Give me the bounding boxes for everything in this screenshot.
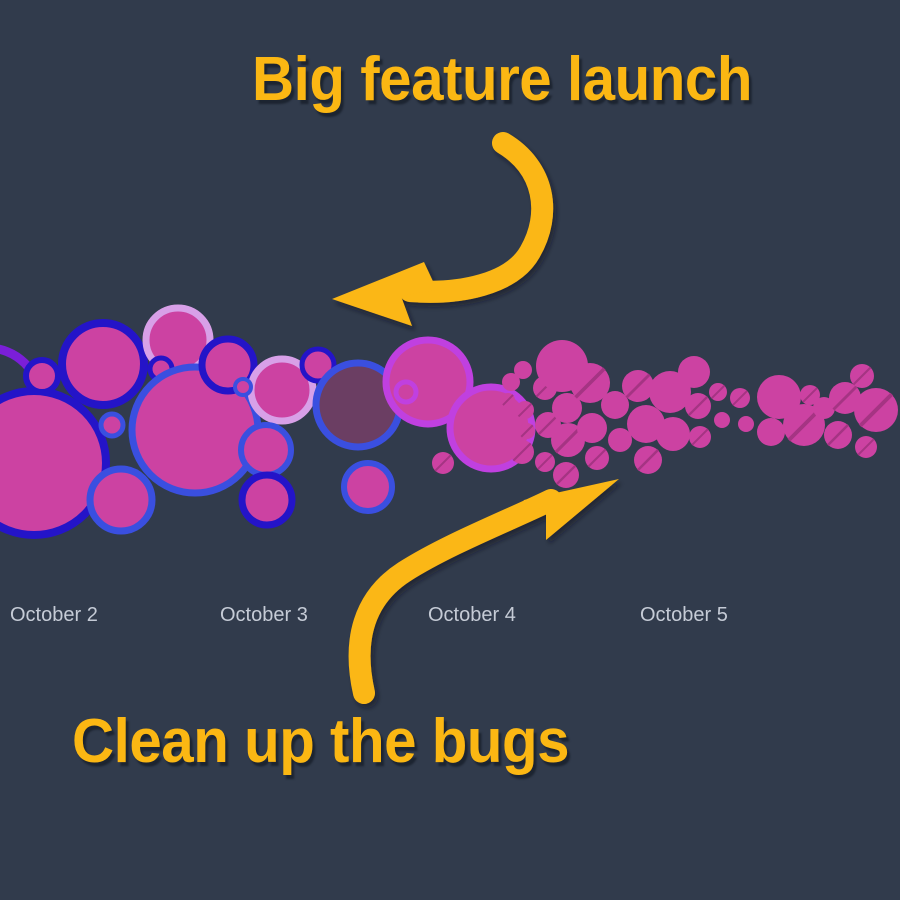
bubble-point[interactable] (519, 423, 535, 439)
bubble-point[interactable] (601, 391, 629, 419)
bubble-point[interactable] (501, 393, 515, 407)
bubble-point[interactable] (90, 469, 152, 531)
x-axis-tick-label: October 2 (10, 604, 98, 627)
bubble-point[interactable] (608, 428, 632, 452)
bubble-point[interactable] (709, 383, 727, 401)
annotation-label-bottom: Clean up the bugs (72, 706, 569, 777)
annotation-arrow-top (332, 143, 542, 326)
bubble-point[interactable] (656, 417, 690, 451)
bubble-point[interactable] (855, 436, 877, 458)
bubble-point[interactable] (730, 388, 750, 408)
bubble-series[interactable] (0, 308, 898, 535)
bubble-point[interactable] (514, 361, 532, 379)
bubble-point[interactable] (26, 360, 58, 392)
bubble-point[interactable] (535, 452, 555, 472)
annotation-label-top: Big feature launch (252, 44, 752, 115)
bubble-point[interactable] (577, 413, 607, 443)
bubble-point[interactable] (585, 446, 609, 470)
bubble-point[interactable] (850, 364, 874, 388)
annotation-arrow-bottom (360, 479, 619, 693)
bubble-point[interactable] (516, 401, 534, 419)
bubble-point[interactable] (685, 393, 711, 419)
bubble-point[interactable] (553, 462, 579, 488)
x-axis-tick-label: October 4 (428, 604, 516, 627)
x-axis-tick-label: October 3 (220, 604, 308, 627)
bubble-point[interactable] (738, 416, 754, 432)
bubble-point[interactable] (62, 323, 144, 405)
bubble-point[interactable] (678, 356, 710, 388)
bubble-point[interactable] (622, 370, 654, 402)
bubble-chart-screenshot: Big feature launch Clean up the bugs Oct… (0, 0, 900, 900)
bubble-point[interactable] (241, 425, 291, 475)
bubble-point[interactable] (689, 426, 711, 448)
bubble-point[interactable] (242, 475, 292, 525)
bubble-point[interactable] (510, 440, 534, 464)
bubble-point[interactable] (396, 382, 416, 402)
bubble-point[interactable] (344, 463, 392, 511)
bubble-point[interactable] (824, 421, 852, 449)
bubble-point[interactable] (634, 446, 662, 474)
bubble-point[interactable] (714, 412, 730, 428)
bubble-point[interactable] (432, 452, 454, 474)
bubble-point[interactable] (101, 414, 123, 436)
bubble-point[interactable] (235, 379, 251, 395)
bubble-point[interactable] (854, 388, 898, 432)
bubble-point[interactable] (757, 418, 785, 446)
x-axis-tick-label: October 5 (640, 604, 728, 627)
